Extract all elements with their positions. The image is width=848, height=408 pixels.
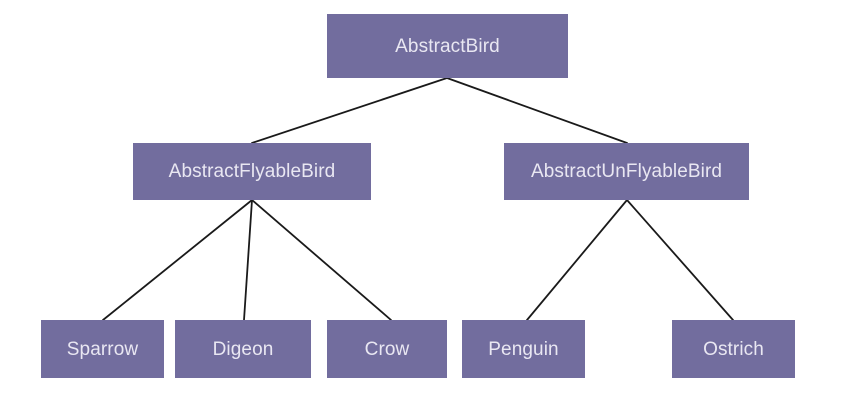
node-ostrich-label: Ostrich bbox=[703, 340, 764, 359]
node-abstract-unflyable-bird-label: AbstractUnFlyableBird bbox=[531, 162, 722, 181]
edge-abstractflyablebird-to-crow bbox=[252, 200, 391, 320]
node-abstract-flyable-bird[interactable]: AbstractFlyableBird bbox=[133, 143, 371, 200]
edge-abstractbird-to-abstractflyablebird bbox=[252, 78, 447, 143]
edge-abstractflyablebird-to-digeon bbox=[244, 200, 252, 320]
class-hierarchy-diagram: AbstractBird AbstractFlyableBird Abstrac… bbox=[0, 0, 848, 408]
edge-abstractunflyablebird-to-penguin bbox=[527, 200, 627, 320]
node-abstract-flyable-bird-label: AbstractFlyableBird bbox=[169, 162, 336, 181]
node-digeon[interactable]: Digeon bbox=[175, 320, 311, 378]
node-digeon-label: Digeon bbox=[213, 340, 274, 359]
node-crow[interactable]: Crow bbox=[327, 320, 447, 378]
node-penguin[interactable]: Penguin bbox=[462, 320, 585, 378]
node-ostrich[interactable]: Ostrich bbox=[672, 320, 795, 378]
edge-abstractunflyablebird-to-ostrich bbox=[627, 200, 733, 320]
node-abstract-bird-label: AbstractBird bbox=[395, 37, 500, 56]
edge-abstractflyablebird-to-sparrow bbox=[103, 200, 252, 320]
edge-abstractbird-to-abstractunflyablebird bbox=[447, 78, 627, 143]
node-crow-label: Crow bbox=[365, 340, 410, 359]
node-abstract-bird[interactable]: AbstractBird bbox=[327, 14, 568, 78]
node-sparrow-label: Sparrow bbox=[67, 340, 138, 359]
node-sparrow[interactable]: Sparrow bbox=[41, 320, 164, 378]
node-abstract-unflyable-bird[interactable]: AbstractUnFlyableBird bbox=[504, 143, 749, 200]
node-penguin-label: Penguin bbox=[488, 340, 558, 359]
